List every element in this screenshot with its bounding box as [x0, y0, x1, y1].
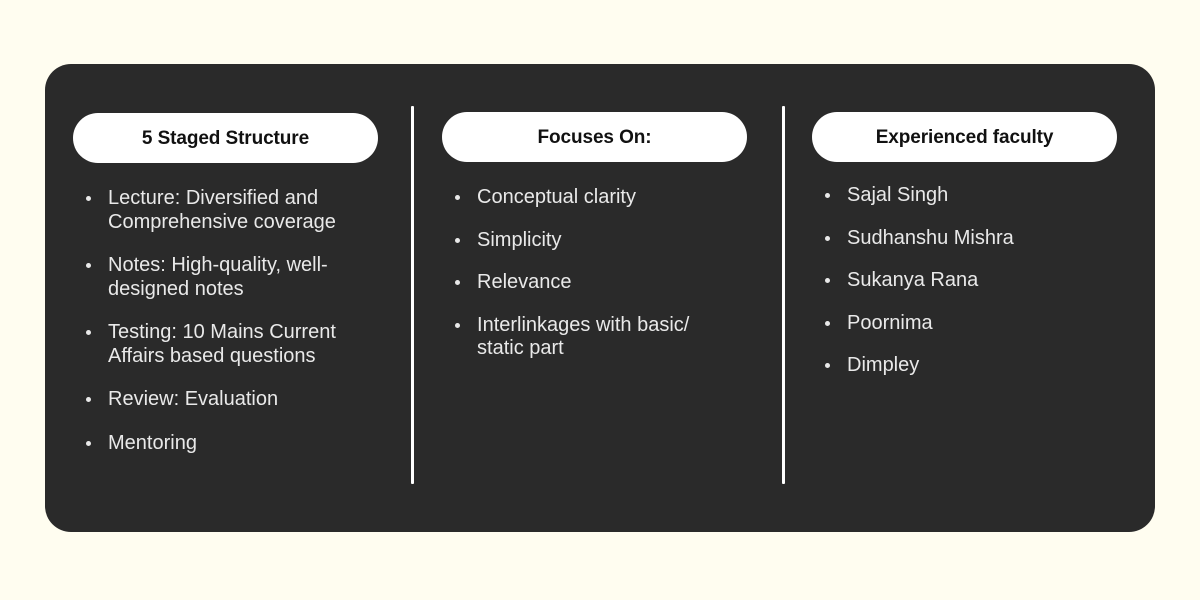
- list-item-text: Testing: 10 Mains Current Affairs based …: [108, 321, 373, 368]
- column-heading-label-2: Focuses On:: [538, 128, 652, 147]
- bullet-dot-icon: [825, 321, 830, 326]
- list-item: Dimpley: [812, 354, 1102, 378]
- list-item-text: Sudhanshu Mishra: [847, 227, 1102, 251]
- list-item: Sudhanshu Mishra: [812, 227, 1102, 251]
- bullet-list-2: Conceptual clarity Simplicity Relevance …: [442, 186, 732, 361]
- list-item-text: Notes: High-quality, well- designed note…: [108, 254, 373, 301]
- bullet-dot-icon: [455, 195, 460, 200]
- column-heading-label-1: 5 Staged Structure: [142, 129, 309, 148]
- list-item-text: Sajal Singh: [847, 184, 1102, 208]
- bullet-dot-icon: [825, 363, 830, 368]
- bullet-list-3: Sajal Singh Sudhanshu Mishra Sukanya Ran…: [812, 184, 1102, 378]
- list-item: Interlinkages with basic/ static part: [442, 314, 732, 361]
- bullet-dot-icon: [86, 263, 91, 268]
- slide-canvas: 5 Staged Structure Lecture: Diversified …: [0, 0, 1200, 600]
- bullet-dot-icon: [455, 323, 460, 328]
- list-item: Sajal Singh: [812, 184, 1102, 208]
- column-heading-pill-3: Experienced faculty: [812, 112, 1117, 162]
- list-item-text: Mentoring: [108, 432, 373, 456]
- bullet-dot-icon: [455, 280, 460, 285]
- column-heading-pill-1: 5 Staged Structure: [73, 113, 378, 163]
- list-item: Poornima: [812, 312, 1102, 336]
- bullet-dot-icon: [86, 397, 91, 402]
- bullet-dot-icon: [86, 196, 91, 201]
- list-item-text: Interlinkages with basic/ static part: [477, 314, 732, 361]
- bullet-dot-icon: [455, 238, 460, 243]
- bullet-dot-icon: [825, 236, 830, 241]
- list-item-text: Simplicity: [477, 229, 732, 253]
- list-item-text: Poornima: [847, 312, 1102, 336]
- column-heading-pill-2: Focuses On:: [442, 112, 747, 162]
- column-staged-structure: 5 Staged Structure Lecture: Diversified …: [45, 64, 411, 532]
- bullet-dot-icon: [825, 193, 830, 198]
- bullet-dot-icon: [86, 441, 91, 446]
- bullet-dot-icon: [825, 278, 830, 283]
- list-item-text: Relevance: [477, 271, 732, 295]
- list-item-text: Conceptual clarity: [477, 186, 732, 210]
- list-item: Mentoring: [73, 432, 373, 456]
- bullet-dot-icon: [86, 330, 91, 335]
- list-item-text: Dimpley: [847, 354, 1102, 378]
- list-item: Lecture: Diversified and Comprehensive c…: [73, 187, 373, 234]
- list-item: Relevance: [442, 271, 732, 295]
- list-item: Conceptual clarity: [442, 186, 732, 210]
- column-focuses-on: Focuses On: Conceptual clarity Simplicit…: [414, 64, 782, 532]
- list-item: Review: Evaluation: [73, 388, 373, 412]
- column-group: 5 Staged Structure Lecture: Diversified …: [45, 64, 1155, 532]
- column-experienced-faculty: Experienced faculty Sajal Singh Sudhansh…: [785, 64, 1155, 532]
- list-item: Testing: 10 Mains Current Affairs based …: [73, 321, 373, 368]
- list-item: Notes: High-quality, well- designed note…: [73, 254, 373, 301]
- content-card: 5 Staged Structure Lecture: Diversified …: [45, 64, 1155, 532]
- list-item-text: Sukanya Rana: [847, 269, 1102, 293]
- list-item-text: Review: Evaluation: [108, 388, 373, 412]
- column-heading-label-3: Experienced faculty: [876, 128, 1054, 147]
- bullet-list-1: Lecture: Diversified and Comprehensive c…: [73, 187, 373, 455]
- list-item: Sukanya Rana: [812, 269, 1102, 293]
- list-item: Simplicity: [442, 229, 732, 253]
- list-item-text: Lecture: Diversified and Comprehensive c…: [108, 187, 373, 234]
